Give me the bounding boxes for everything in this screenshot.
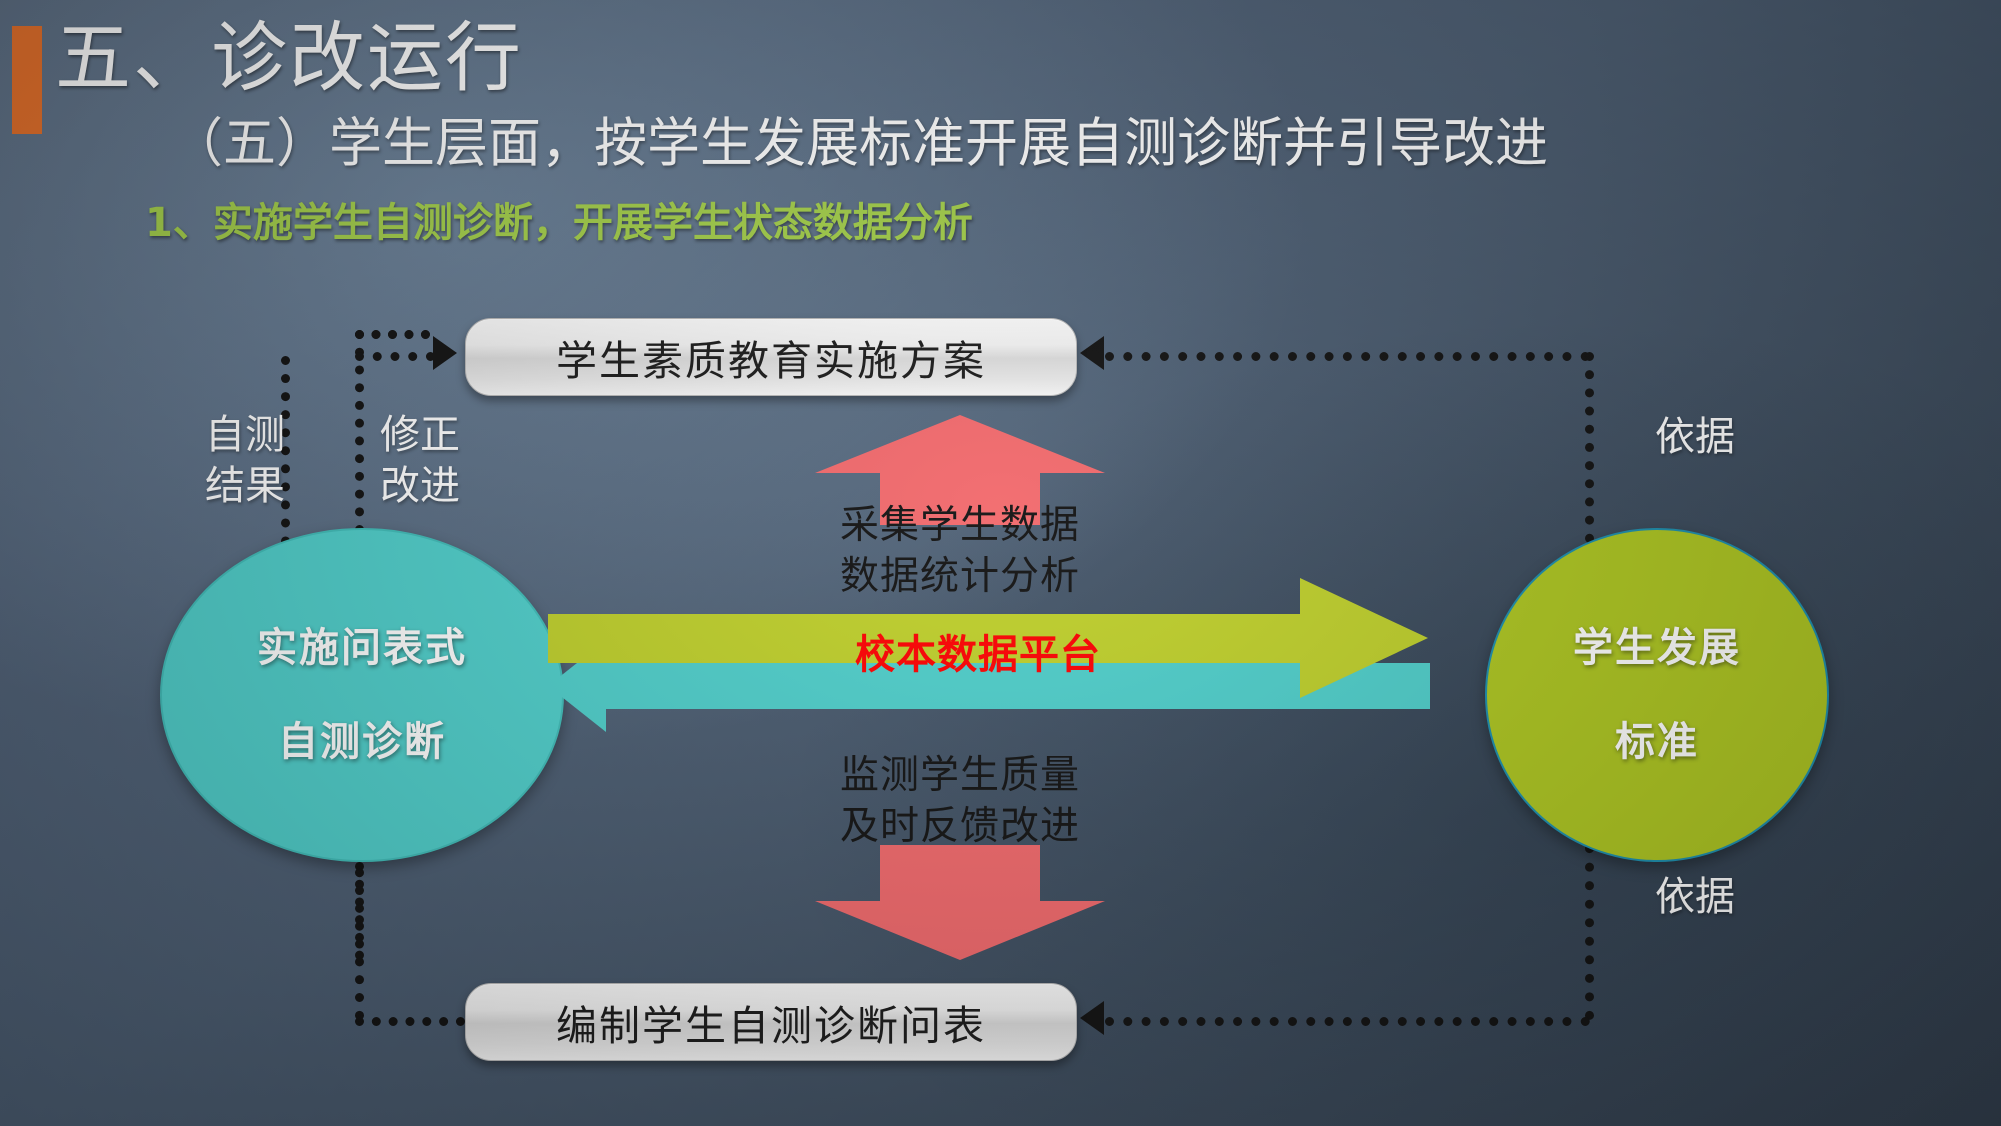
connector-bottom-right <box>1105 1017 1590 1026</box>
node-student-development-standard-ellipse[interactable]: 学生发展 标准 <box>1485 528 1829 862</box>
caption-lower-line1: 监测学生质量 <box>780 750 1140 801</box>
label-self-line2: 结果 <box>205 461 285 512</box>
node-student-quality-education-plan[interactable]: 学生素质教育实施方案 <box>465 318 1077 396</box>
ellipse-right-line2: 标准 <box>1615 722 1699 762</box>
caption-upper-line1: 采集学生数据 <box>780 500 1140 551</box>
label-self-line1: 自测 <box>205 410 285 461</box>
ellipse-right-line1: 学生发展 <box>1573 628 1741 668</box>
node-self-diagnosis-ellipse[interactable]: 实施问表式 自测诊断 <box>160 528 564 862</box>
caption-monitor-quality: 监测学生质量 及时反馈改进 <box>780 750 1140 853</box>
title-accent-bar <box>12 26 42 134</box>
slide-canvas: 五、诊改运行 （五）学生层面，按学生发展标准开展自测诊断并引导改进 1、实施学生… <box>0 0 2001 1126</box>
connector-bottom-left <box>355 1017 465 1026</box>
connector-top-inbound <box>355 352 435 361</box>
page-title: 五、诊改运行 <box>55 14 523 101</box>
green-arrow-head-icon <box>1300 578 1428 698</box>
ellipse-left-line1: 实施问表式 <box>257 628 467 668</box>
ellipse-left-line2: 自测诊断 <box>278 722 446 762</box>
connector-top-right <box>1105 352 1590 361</box>
caption-lower-line2: 及时反馈改进 <box>780 801 1140 852</box>
label-basis-bottom: 依据 <box>1655 872 1735 923</box>
label-fix-improve: 修正 改进 <box>380 410 460 512</box>
label-basis-top: 依据 <box>1655 412 1735 463</box>
label-fix-line2: 改进 <box>380 461 460 512</box>
label-fix-line1: 修正 <box>380 410 460 461</box>
caption-collect-data: 采集学生数据 数据统计分析 <box>780 500 1140 603</box>
arrowhead-top-right-icon <box>1080 336 1104 370</box>
page-subtitle: （五）学生层面，按学生发展标准开展自测诊断并引导改进 <box>170 112 1548 176</box>
node-self-diagnosis-questionnaire[interactable]: 编制学生自测诊断问表 <box>465 983 1077 1061</box>
arrowhead-top-inbound-icon <box>433 336 457 370</box>
connector-to-box-top-left <box>355 330 430 339</box>
section-heading: 1、实施学生自测诊断，开展学生状态数据分析 <box>145 190 973 248</box>
red-arrow-down-icon <box>810 845 1110 960</box>
label-self-result: 自测 结果 <box>205 410 285 512</box>
platform-label: 校本数据平台 <box>855 622 1101 680</box>
caption-upper-line2: 数据统计分析 <box>780 551 1140 602</box>
arrowhead-bottom-right-icon <box>1080 1001 1104 1035</box>
